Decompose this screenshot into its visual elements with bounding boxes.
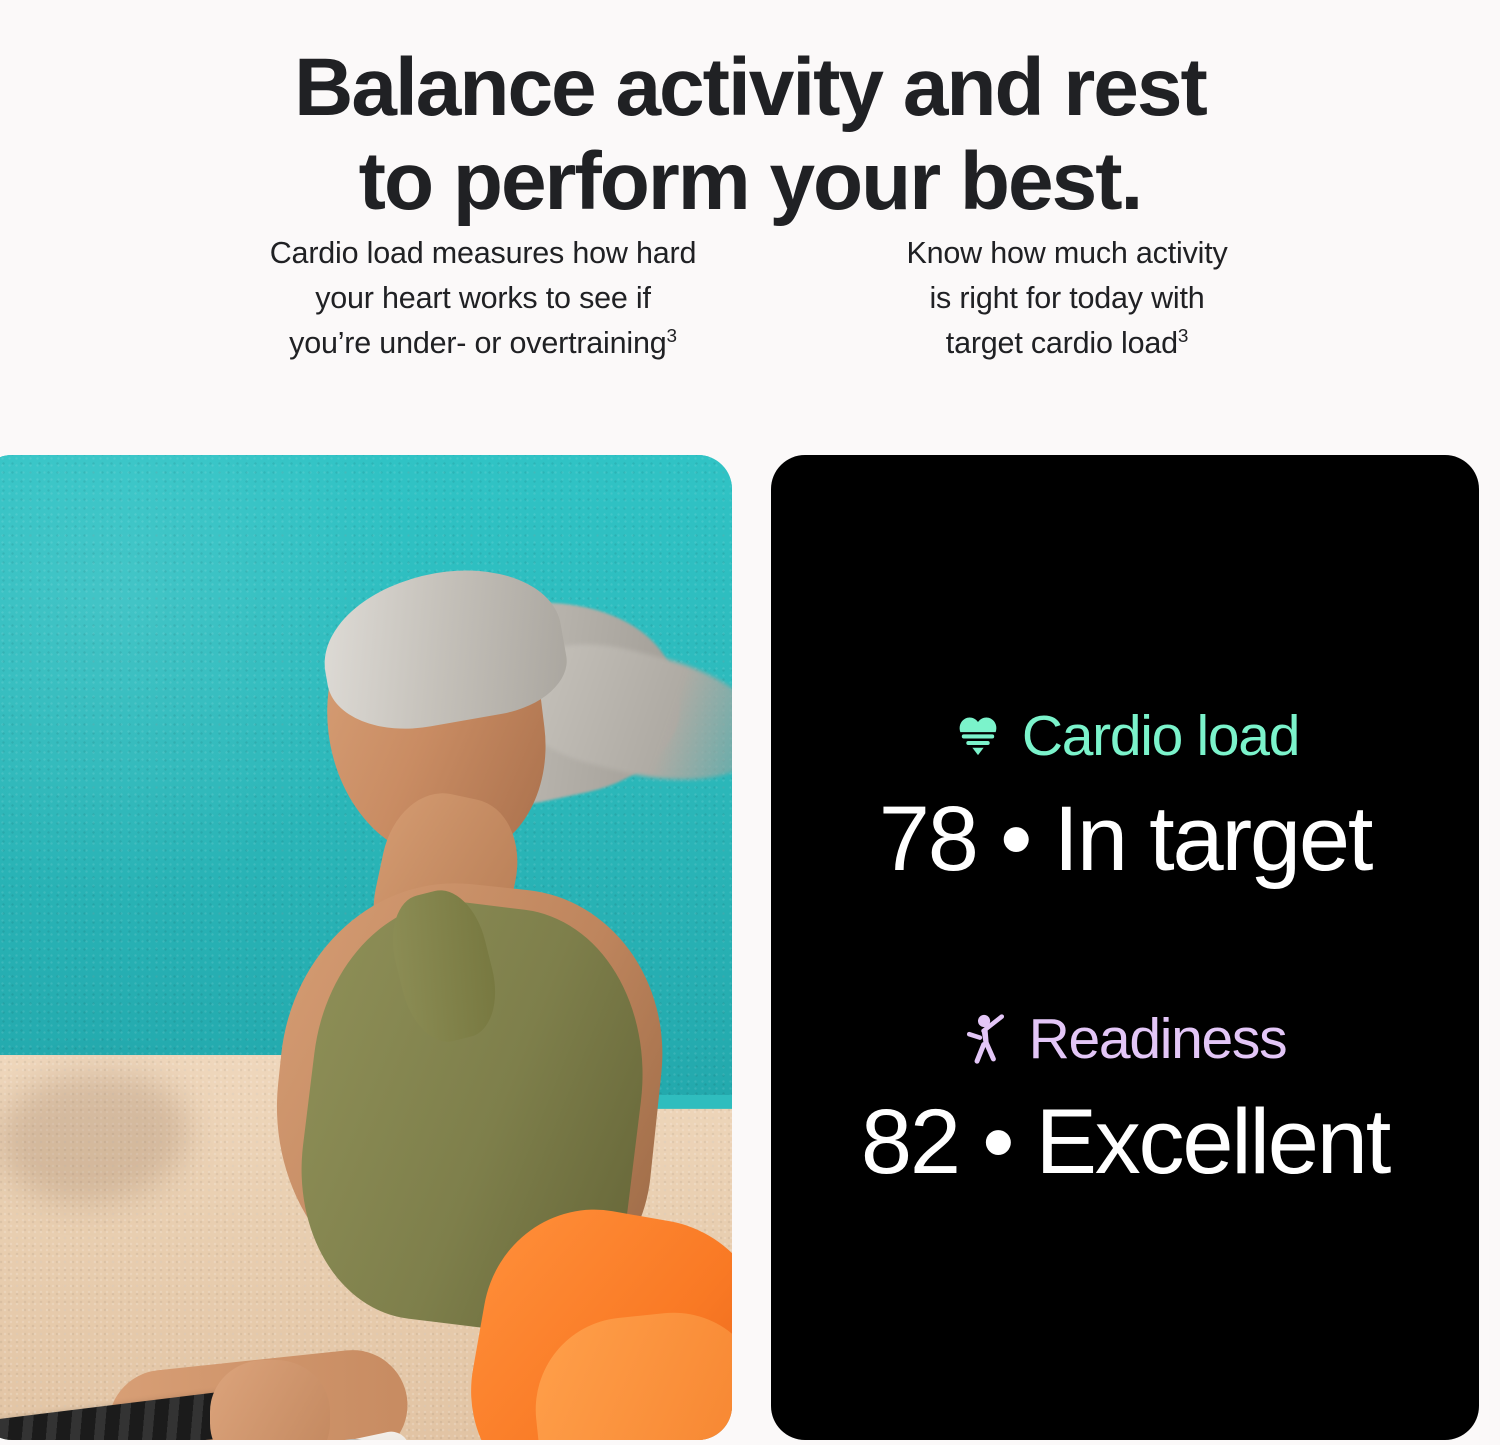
subcopy-left-line-1: Cardio load measures how hard bbox=[218, 231, 748, 276]
page-title: Balance activity and rest to perform you… bbox=[0, 41, 1500, 229]
footnote-marker-right: 3 bbox=[1178, 326, 1188, 347]
metric-readiness-value: 82 • Excellent bbox=[771, 1096, 1479, 1188]
metric-readiness-label-row: Readiness bbox=[771, 1011, 1479, 1068]
subcopy-left-line-2: your heart works to see if bbox=[218, 276, 748, 321]
subcopy-left-line-3: you’re under- or overtraining3 bbox=[218, 321, 748, 366]
person-stretching-readiness-icon bbox=[964, 1012, 1012, 1066]
heart-cardio-load-icon bbox=[951, 709, 1005, 763]
metric-cardio-load: Cardio load 78 • In target bbox=[771, 708, 1479, 885]
metric-cardio-load-label: Cardio load bbox=[1022, 708, 1299, 765]
subcopy-right-line-3-text: target cardio load bbox=[946, 326, 1178, 360]
subcopy-right-line-2: is right for today with bbox=[852, 276, 1282, 321]
subcopy-column-target-load: Know how much activity is right for toda… bbox=[852, 231, 1282, 366]
metric-cardio-load-value: 78 • In target bbox=[771, 793, 1479, 885]
metrics-card: Cardio load 78 • In target bbox=[771, 455, 1479, 1440]
page-title-line-2: to perform your best. bbox=[0, 135, 1500, 229]
metric-readiness: Readiness 82 • Excellent bbox=[771, 1011, 1479, 1188]
page-title-line-1: Balance activity and rest bbox=[0, 41, 1500, 135]
subcopy-left-line-3-text: you’re under- or overtraining bbox=[289, 326, 666, 360]
footnote-marker-left: 3 bbox=[667, 326, 677, 347]
subcopy-columns: Cardio load measures how hard your heart… bbox=[0, 231, 1500, 366]
cards-row: Cardio load 78 • In target bbox=[0, 455, 1500, 1445]
subcopy-right-line-1: Know how much activity bbox=[852, 231, 1282, 276]
promo-page: Balance activity and rest to perform you… bbox=[0, 0, 1500, 1445]
subcopy-column-cardio-load: Cardio load measures how hard your heart… bbox=[218, 231, 748, 366]
metric-cardio-load-label-row: Cardio load bbox=[771, 708, 1479, 765]
subcopy-right-line-3: target cardio load3 bbox=[852, 321, 1282, 366]
metric-readiness-label: Readiness bbox=[1029, 1011, 1287, 1068]
lifestyle-photo bbox=[0, 455, 732, 1440]
